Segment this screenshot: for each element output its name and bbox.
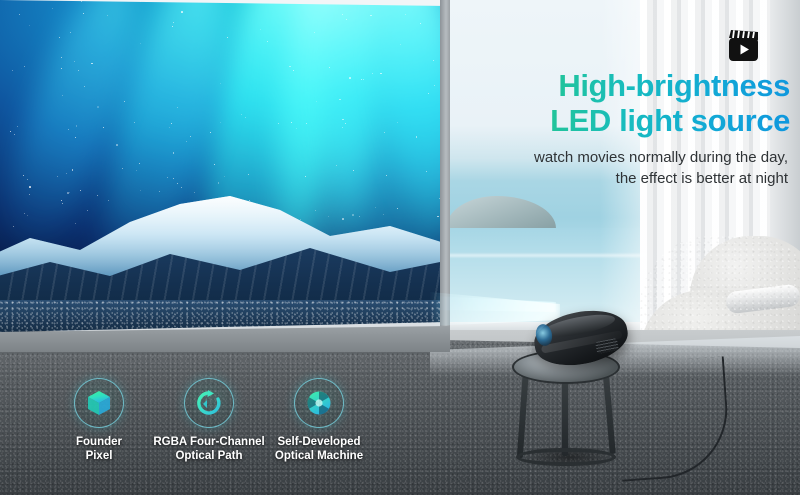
headline-line-1: High-brightness [558, 68, 790, 103]
feature-label-line-1: RGBA Four-Channel [153, 436, 264, 448]
headline-line-2: LED light source [460, 103, 790, 138]
page-title: High-brightness LED light source [460, 68, 790, 138]
feature-label-line-2: Optical Machine [275, 449, 363, 463]
feature-label-line-2: Optical Path [153, 449, 264, 463]
feature-item-founder-pixel: Founder Pixel [44, 378, 154, 464]
feature-label-line-1: Self-Developed [277, 436, 360, 448]
feature-label: Self-Developed Optical Machine [275, 435, 363, 464]
feature-icon-ring [294, 378, 344, 428]
feature-icon-ring [184, 378, 234, 428]
feature-list: Founder Pixel RG [44, 378, 374, 464]
feature-label-line-2: Pixel [76, 449, 122, 463]
feature-label: Founder Pixel [76, 435, 122, 464]
circular-arrow-icon [194, 388, 224, 418]
marketing-banner: High-brightness LED light source watch m… [0, 0, 800, 495]
clapperboard-icon [727, 27, 760, 63]
subheadline-line-2: the effect is better at night [440, 169, 788, 190]
feature-label-line-1: Founder [76, 436, 122, 448]
feature-label: RGBA Four-Channel Optical Path [153, 435, 264, 464]
feature-icon-ring [74, 378, 124, 428]
aperture-icon [304, 388, 334, 418]
table-base-ring [516, 448, 616, 466]
cube-icon [84, 388, 114, 418]
projection-screen [0, 0, 447, 332]
feature-item-self-developed-optical-machine: Self-Developed Optical Machine [264, 378, 374, 464]
subheadline-line-1: watch movies normally during the day, [534, 149, 788, 166]
subheadline: watch movies normally during the day, th… [440, 148, 788, 189]
feature-item-rgba-optical-path: RGBA Four-Channel Optical Path [154, 378, 264, 464]
